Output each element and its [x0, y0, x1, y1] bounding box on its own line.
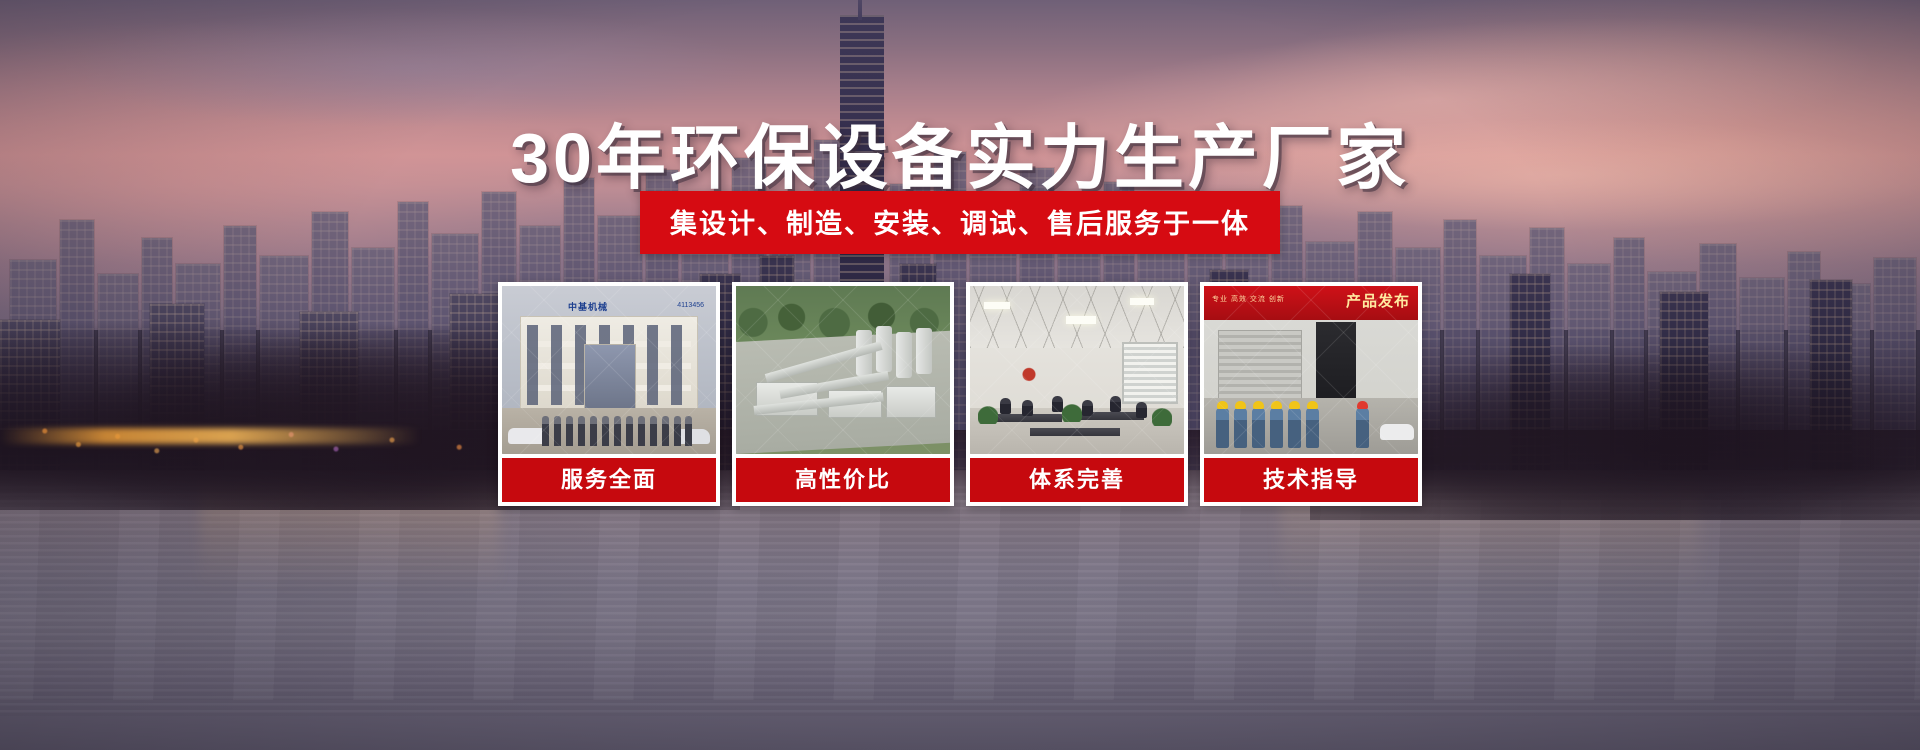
feature-card-list: 中基机械 4113456 服务全面: [498, 282, 1422, 506]
card-photo-office-interior: [970, 286, 1184, 454]
banner-content: 30年环保设备实力生产厂家 集设计、制造、安装、调试、售后服务于一体 中基机械 …: [0, 0, 1920, 750]
banner-subtitle-badge: 集设计、制造、安装、调试、售后服务于一体: [640, 191, 1280, 254]
photo-banner-text: 产品发布: [1346, 290, 1410, 311]
banner-headline: 30年环保设备实力生产厂家: [0, 102, 1920, 203]
feature-card[interactable]: 中基机械 4113456 服务全面: [498, 282, 720, 506]
card-label: 高性价比: [736, 458, 950, 502]
card-label: 服务全面: [502, 458, 716, 502]
photo-banner-subtext: 专业 高效 交流 创新: [1212, 294, 1285, 304]
card-label: 体系完善: [970, 458, 1184, 502]
card-photo-industrial-plant: [736, 286, 950, 454]
feature-card[interactable]: 产品发布 专业 高效 交流 创新 技术指导: [1200, 282, 1422, 506]
photo-phone-text: 4113456: [677, 302, 704, 309]
hero-banner: 30年环保设备实力生产厂家 集设计、制造、安装、调试、售后服务于一体 中基机械 …: [0, 0, 1920, 750]
photo-brand-text: 中基机械: [568, 300, 608, 313]
card-photo-company-building: 中基机械 4113456: [502, 286, 716, 454]
card-label: 技术指导: [1204, 458, 1418, 502]
feature-card[interactable]: 高性价比: [732, 282, 954, 506]
card-photo-workshop-workers: 产品发布 专业 高效 交流 创新: [1204, 286, 1418, 454]
feature-card[interactable]: 体系完善: [966, 282, 1188, 506]
